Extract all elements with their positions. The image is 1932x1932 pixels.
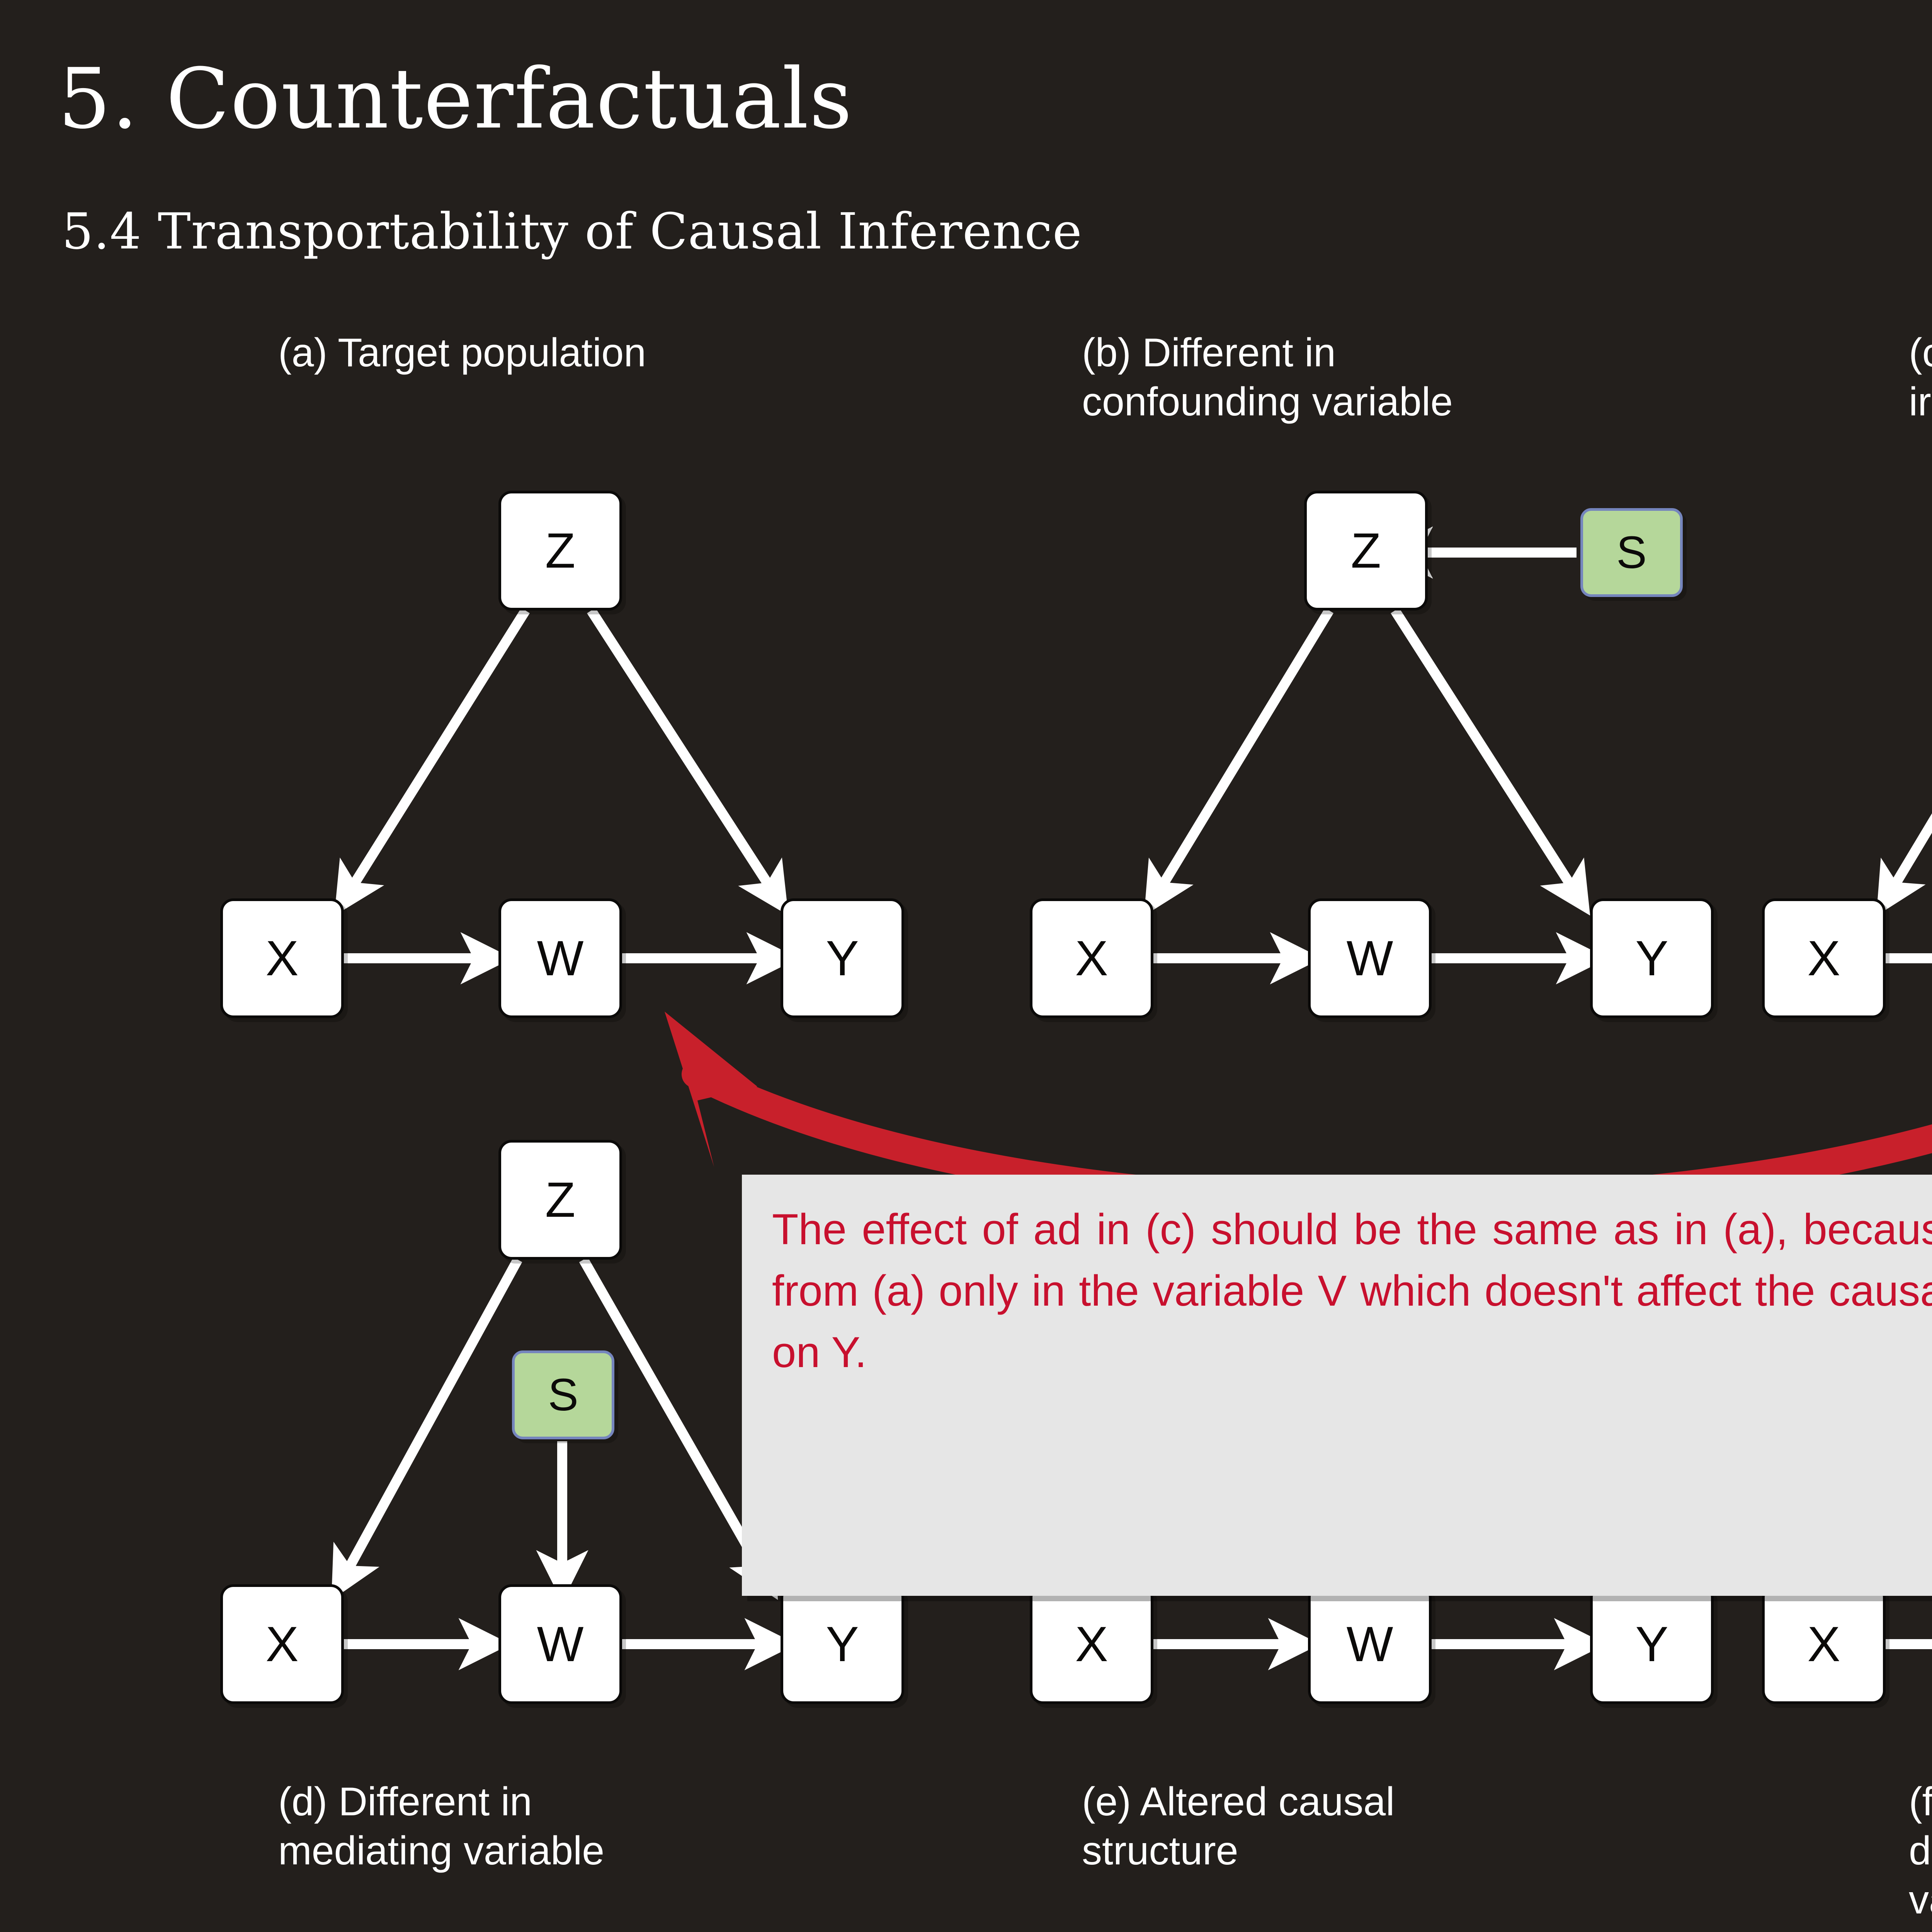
explanation-callout: The effect of ad in (c) should be the sa… [742, 1175, 1932, 1596]
panel-caption-e: (e) Altered causal structure [1082, 1777, 1395, 1876]
callout-text: The effect of ad in (c) should be the sa… [772, 1199, 1932, 1383]
node-label: Y [826, 930, 859, 987]
node-d-Z[interactable]: Z [498, 1140, 622, 1260]
node-e-Y[interactable]: Y [1590, 1584, 1714, 1704]
node-label: X [1075, 930, 1108, 987]
node-b-W[interactable]: W [1308, 898, 1432, 1018]
node-b-Y[interactable]: Y [1590, 898, 1714, 1018]
node-label: Y [1635, 1616, 1668, 1673]
node-label: S [1616, 526, 1647, 579]
node-f-X[interactable]: X [1762, 1584, 1886, 1704]
node-label: W [537, 930, 584, 987]
node-label: S [548, 1369, 578, 1421]
node-d-X[interactable]: X [220, 1584, 344, 1704]
slide-canvas: 5. Counterfactuals 5.4 Transportability … [0, 0, 1932, 1932]
page-subtitle: 5.4 Transportability of Causal Inference [62, 203, 1082, 260]
node-label: W [537, 1616, 584, 1673]
node-label: W [1347, 1616, 1393, 1673]
node-d-W[interactable]: W [498, 1584, 622, 1704]
node-b-X[interactable]: X [1030, 898, 1153, 1018]
node-label: X [1075, 1616, 1108, 1673]
node-d-Y[interactable]: Y [781, 1584, 904, 1704]
node-label: X [1807, 1616, 1840, 1673]
node-label: W [1347, 930, 1393, 987]
node-e-W[interactable]: W [1308, 1584, 1432, 1704]
panel-caption-f: (f) Altered structure, different in outc… [1909, 1777, 1932, 1925]
page-title: 5. Counterfactuals [58, 50, 853, 147]
node-label: X [1807, 930, 1840, 987]
node-b-Z[interactable]: Z [1304, 491, 1428, 611]
node-a-Y[interactable]: Y [781, 898, 904, 1018]
node-label: X [265, 930, 298, 987]
node-label: Z [1351, 522, 1381, 579]
node-b-S[interactable]: S [1580, 508, 1683, 597]
panel-caption-d: (d) Different in mediating variable [278, 1777, 604, 1876]
node-label: Z [545, 1172, 575, 1228]
node-d-S[interactable]: S [512, 1350, 614, 1439]
panel-caption-c: (c) Different in irrelevant variable [1909, 328, 1932, 427]
panel-caption-b: (b) Different in confounding variable [1082, 328, 1453, 427]
node-label: Y [1635, 930, 1668, 987]
panel-caption-a: (a) Target population [278, 328, 646, 378]
node-label: Y [826, 1616, 859, 1673]
node-e-X[interactable]: X [1030, 1584, 1153, 1704]
node-c-X[interactable]: X [1762, 898, 1886, 1018]
node-a-X[interactable]: X [220, 898, 344, 1018]
node-label: X [265, 1616, 298, 1673]
node-a-Z[interactable]: Z [498, 491, 622, 611]
node-label: Z [545, 522, 575, 579]
node-a-W[interactable]: W [498, 898, 622, 1018]
